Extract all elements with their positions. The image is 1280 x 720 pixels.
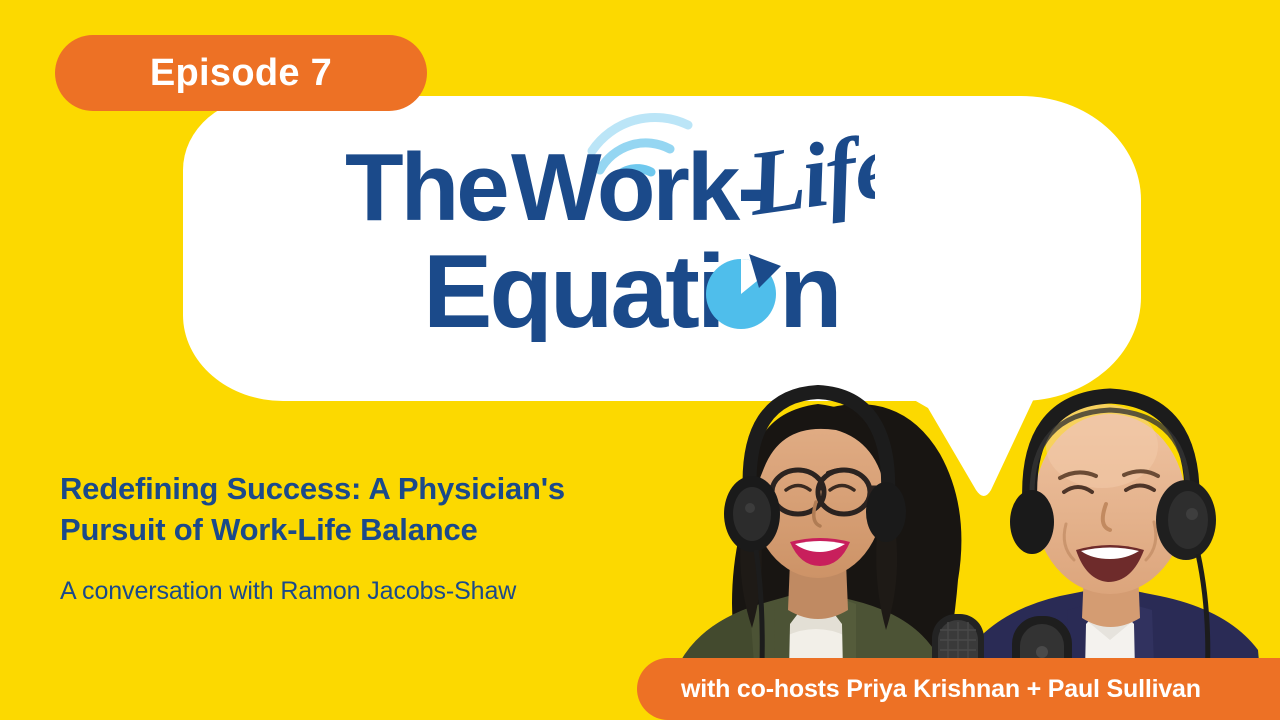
episode-text-block: Redefining Success: A Physician's Pursui… [60, 468, 720, 606]
page-title: Redefining Success: A Physician's Pursui… [60, 468, 720, 550]
episode-badge: Episode 7 [55, 35, 427, 111]
podcast-cover: Episode 7 The Work- Life Equati [0, 0, 1280, 720]
cohost-banner: with co-hosts Priya Krishnan + Paul Sull… [637, 658, 1280, 720]
svg-text:Equati: Equati [423, 234, 723, 342]
episode-title-line2: Pursuit of Work-Life Balance [60, 509, 720, 550]
episode-badge-label: Episode 7 [150, 54, 332, 92]
svg-text:n: n [779, 234, 843, 342]
svg-text:Life: Life [741, 114, 875, 235]
svg-text:The: The [345, 134, 507, 241]
episode-subtitle: A conversation with Ramon Jacobs-Shaw [60, 576, 720, 606]
podcast-logo: The Work- Life Equati n [345, 112, 875, 342]
svg-text:Work-: Work- [511, 134, 766, 241]
episode-title-line1: Redefining Success: A Physician's [60, 468, 720, 509]
cohost-banner-label: with co-hosts Priya Krishnan + Paul Sull… [637, 675, 1201, 704]
